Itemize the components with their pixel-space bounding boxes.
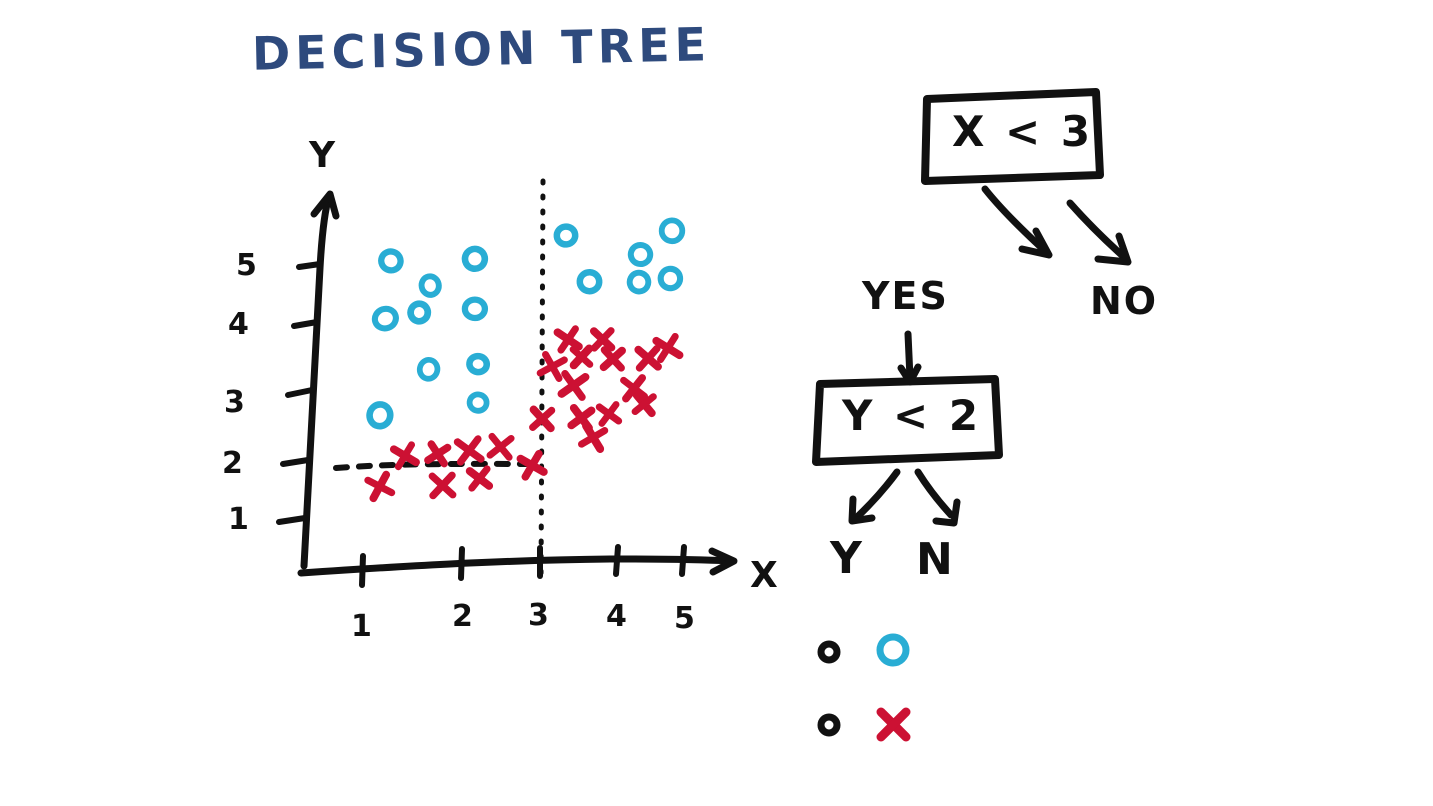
- leaf-yes-label: Y: [830, 537, 862, 581]
- whiteboard-canvas: DECISION TREE: [0, 0, 1433, 806]
- decision-tree-diagram: [0, 0, 1433, 806]
- arrow-root-to-no: [1070, 203, 1128, 262]
- root-node-label: X < 3: [952, 111, 1093, 153]
- legend-bullet-dot-2: [821, 717, 837, 733]
- cross-marker-icon: [881, 712, 906, 737]
- arrow-second-to-leaf-no: [918, 472, 957, 523]
- legend-bullet-dot-1: [821, 644, 837, 660]
- legend-markers: [821, 637, 906, 737]
- arrow-root-to-yes: [985, 189, 1049, 255]
- leaf-no-label: N: [916, 538, 953, 582]
- circle-marker-icon: [880, 637, 906, 663]
- arrow-yes-to-second-node: [901, 334, 918, 382]
- branch-no-label: NO: [1090, 282, 1158, 320]
- arrow-second-to-leaf-yes: [852, 472, 897, 521]
- second-node-label: Y < 2: [842, 395, 981, 437]
- branch-yes-label: YES: [862, 277, 949, 315]
